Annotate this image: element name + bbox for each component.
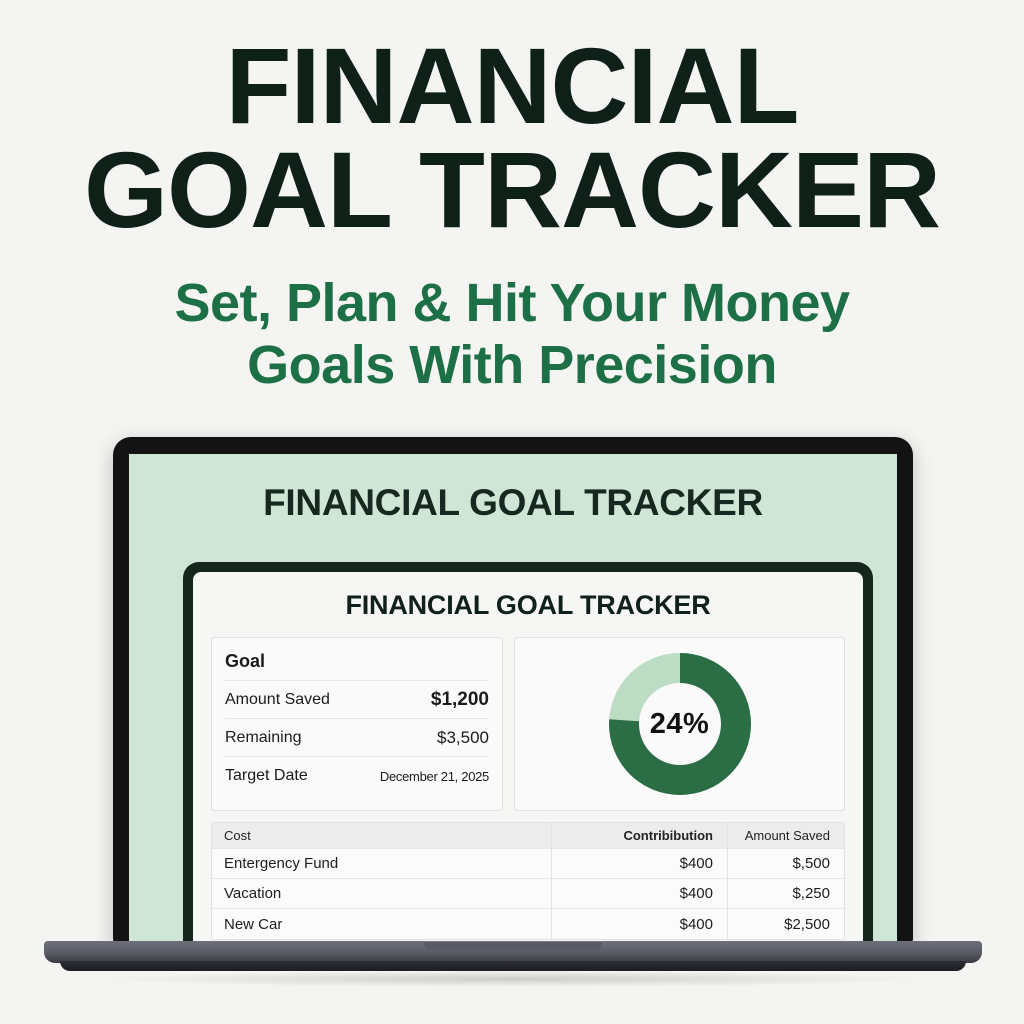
summary-value-target-date: December 21, 2025 xyxy=(380,769,489,784)
laptop-base xyxy=(44,941,982,973)
summary-label-target-date: Target Date xyxy=(225,767,308,785)
goals-table-header-row: Cost Contribibution Amount Saved xyxy=(212,823,844,849)
cell-contribution: $400 xyxy=(552,909,728,939)
progress-chart-card: 24% xyxy=(514,637,845,811)
column-header-contribution: Contribibution xyxy=(552,823,728,848)
summary-row-remaining: Remaining $3,500 xyxy=(225,719,489,757)
laptop-base-foot xyxy=(60,961,966,971)
page-title-line-2: GOAL TRACKER xyxy=(0,138,1024,242)
laptop-drop-shadow xyxy=(104,971,922,987)
goal-summary-header-row: Goal xyxy=(225,643,489,681)
app-window-frame: FINANCIAL GOAL TRACKER Goal Amount Saved… xyxy=(183,562,873,943)
donut-chart: 24% xyxy=(604,648,756,800)
goal-summary-card: Goal Amount Saved $1,200 Remaining $3,50… xyxy=(211,637,503,811)
laptop-screen: FINANCIAL GOAL TRACKER FINANCIAL GOAL TR… xyxy=(129,454,897,943)
summary-value-remaining: $3,500 xyxy=(437,728,489,748)
donut-center-label: 24% xyxy=(604,648,756,800)
summary-label-amount-saved: Amount Saved xyxy=(225,691,330,709)
page-subtitle-line-1: Set, Plan & Hit Your Money xyxy=(0,241,1024,335)
cell-amount-saved: $2,500 xyxy=(728,909,844,939)
cell-amount-saved: $,500 xyxy=(728,849,844,878)
screen-header-title: FINANCIAL GOAL TRACKER xyxy=(129,454,897,524)
goal-summary-header-label: Goal xyxy=(225,651,265,672)
cell-cost: Vacation xyxy=(212,879,552,908)
summary-value-amount-saved: $1,200 xyxy=(431,689,489,711)
summary-row-amount-saved: Amount Saved $1,200 xyxy=(225,681,489,719)
laptop-base-notch xyxy=(424,941,602,950)
cell-contribution: $400 xyxy=(552,879,728,908)
page-title-line-1: FINANCIAL xyxy=(0,0,1024,138)
table-row[interactable]: New Car $400 $2,500 xyxy=(212,909,844,939)
table-row[interactable]: Entergency Fund $400 $,500 xyxy=(212,849,844,879)
cell-contribution: $400 xyxy=(552,849,728,878)
table-row[interactable]: Vacation $400 $,250 xyxy=(212,879,844,909)
summary-and-chart-row: Goal Amount Saved $1,200 Remaining $3,50… xyxy=(211,637,845,811)
app-window-body: FINANCIAL GOAL TRACKER Goal Amount Saved… xyxy=(193,572,863,943)
laptop-lid: FINANCIAL GOAL TRACKER FINANCIAL GOAL TR… xyxy=(113,437,913,943)
cell-cost: New Car xyxy=(212,909,552,939)
summary-label-remaining: Remaining xyxy=(225,729,301,747)
summary-row-target-date: Target Date December 21, 2025 xyxy=(225,757,489,795)
goals-table: Cost Contribibution Amount Saved Enterge… xyxy=(211,822,845,940)
page-subtitle-line-2: Goals With Precision xyxy=(0,335,1024,397)
cell-amount-saved: $,250 xyxy=(728,879,844,908)
poster-header: FINANCIAL GOAL TRACKER Set, Plan & Hit Y… xyxy=(0,0,1024,396)
app-title: FINANCIAL GOAL TRACKER xyxy=(211,590,845,637)
cell-cost: Entergency Fund xyxy=(212,849,552,878)
column-header-amount-saved: Amount Saved xyxy=(728,823,844,848)
laptop-mockup: FINANCIAL GOAL TRACKER FINANCIAL GOAL TR… xyxy=(113,437,913,943)
column-header-cost: Cost xyxy=(212,823,552,848)
